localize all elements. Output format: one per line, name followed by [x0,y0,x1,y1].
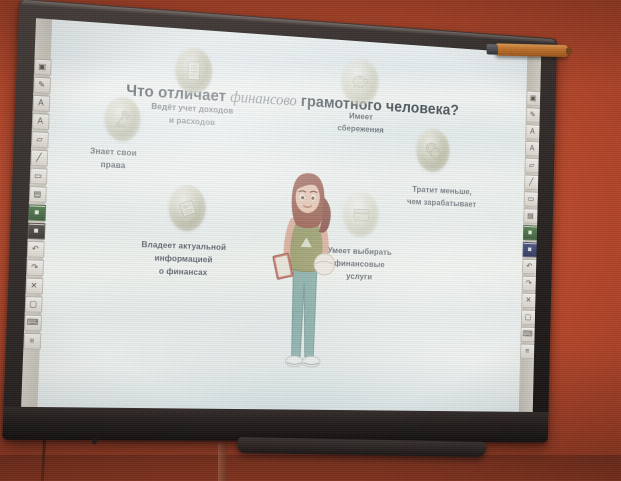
undo-tool-icon[interactable]: ↶ [26,241,44,258]
caption-information: Владеет актуальной информацией о финанса… [113,237,253,281]
line-tool-icon[interactable]: ╱ [524,174,539,190]
menu-tool-icon[interactable]: ≡ [520,344,535,359]
clear-tool-icon[interactable]: ✕ [25,278,43,295]
coins-icon [416,128,450,172]
capture-tool-icon[interactable]: ▢ [520,310,535,325]
redo-tool-icon[interactable]: ↷ [26,259,44,276]
presentation-slide: Что отличает финансово грамотного челове… [35,19,529,412]
shape-tool-icon[interactable]: ▱ [31,131,49,148]
undo-tool-icon[interactable]: ↶ [522,259,537,275]
redo-tool-icon[interactable]: ↷ [521,276,536,292]
coins-glyph [424,140,442,160]
highlighter-tool-icon[interactable]: A [32,95,50,112]
tray-screw [92,438,97,444]
caption-rights: Знает свои права [67,143,159,174]
color-blue-swatch-icon[interactable]: ■ [522,242,537,258]
clear-tool-icon[interactable]: ✕ [521,293,536,308]
capture-tool-icon[interactable]: ▢ [24,296,42,313]
board-screen[interactable]: SMARTBOARD Что отличает финансово грамот… [21,18,541,412]
color-dark-swatch-icon[interactable]: ■ [27,223,45,240]
stylus-pen[interactable] [495,43,568,57]
menu-tool-icon[interactable]: ≡ [23,333,41,350]
bank-card-icon [343,191,379,237]
select-tool-icon[interactable]: ▣ [33,58,51,75]
bank-card-glyph [352,207,370,222]
fill-tool-icon[interactable]: ▤ [523,208,538,224]
notebook-ledger-glyph [186,60,202,81]
eraser-tool-icon[interactable]: ▭ [523,191,538,207]
caption-spends-less: Тратит меньше, чем зарабатывает [384,182,499,212]
keyboard-tool-icon[interactable]: ⌨ [520,327,535,342]
fill-tool-icon[interactable]: ▤ [28,186,46,203]
text-tool-icon[interactable]: A [31,113,49,130]
color-green-swatch-icon[interactable]: ■ [28,204,46,221]
shape-tool-icon[interactable]: ▱ [524,158,539,174]
select-tool-icon[interactable]: ▣ [526,90,541,106]
text-tool-icon[interactable]: A [524,141,539,157]
color-green-swatch-icon[interactable]: ■ [522,225,537,241]
newspaper-icon [168,184,206,231]
pen-tool-icon[interactable]: ✎ [33,77,51,94]
stylus-cap [487,44,499,55]
newspaper-glyph [178,198,197,218]
caption-savings: Имеет сбережения [314,108,406,138]
stylus-tip [566,48,572,55]
whiteboard-container: SMARTBOARD Что отличает финансово грамот… [0,0,621,481]
pen-tool-icon[interactable]: ✎ [525,107,540,123]
keyboard-tool-icon[interactable]: ⌨ [23,314,41,331]
eraser-tool-icon[interactable]: ▭ [29,168,47,185]
financially-literate-girl-illustration [261,163,348,392]
interactive-whiteboard[interactable]: SMARTBOARD Что отличает финансово грамот… [2,0,557,442]
highlighter-tool-icon[interactable]: A [525,124,540,140]
line-tool-icon[interactable]: ╱ [30,149,48,166]
piggy-bank-glyph [351,73,370,89]
